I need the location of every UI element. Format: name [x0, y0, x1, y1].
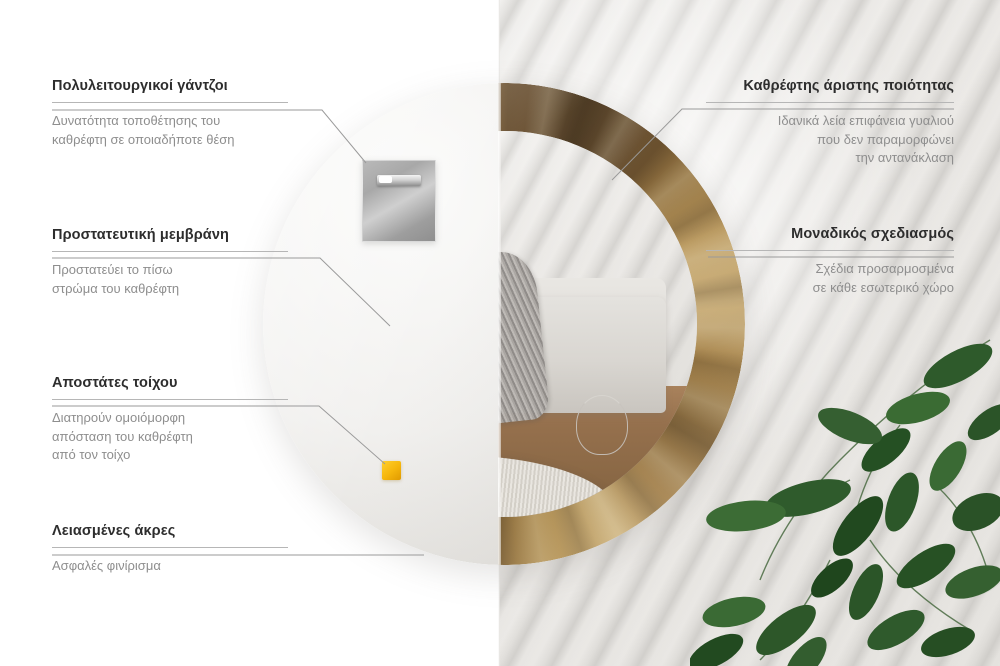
callout-body-line-1: Διατηρούν ομοιόμορφη: [52, 410, 185, 425]
callout-body-line-2: σε κάθε εσωτερικό χώρο: [813, 280, 954, 295]
callout-unique-design: Μοναδικός σχεδιασμός Σχέδια προσαρμοσμέν…: [706, 226, 954, 297]
callout-body: Δυνατότητα τοποθέτησης του καθρέφτη σε ο…: [52, 112, 288, 149]
callout-polished-edges: Λειασμένες άκρες Ασφαλές φινίρισμα: [52, 523, 288, 576]
callout-body-line-2: που δεν παραμορφώνει: [817, 132, 954, 147]
callout-glass-quality: Καθρέφτης άριστης ποιότητας Ιδανικά λεία…: [706, 78, 954, 168]
callout-body: Ιδανικά λεία επιφάνεια γυαλιού που δεν π…: [706, 112, 954, 167]
callout-title: Πολυλειτουργικοί γάντζοι: [52, 78, 288, 95]
callout-title: Αποστάτες τοίχου: [52, 375, 288, 392]
callout-title: Προστατευτική μεμβράνη: [52, 227, 288, 244]
callout-body-line-1: Ιδανικά λεία επιφάνεια γυαλιού: [778, 113, 954, 128]
callout-membrane: Προστατευτική μεμβράνη Προστατεύει το πί…: [52, 227, 288, 298]
leaf-shapes: [690, 335, 1000, 666]
callout-body: Σχέδια προσαρμοσμένα σε κάθε εσωτερικό χ…: [706, 260, 954, 297]
callout-body-line-2: στρώμα του καθρέφτη: [52, 281, 179, 296]
callout-body: Διατηρούν ομοιόμορφη απόσταση του καθρέφ…: [52, 409, 288, 464]
callout-body-line-1: Σχέδια προσαρμοσμένα: [816, 261, 954, 276]
callout-body: Προστατεύει το πίσω στρώμα του καθρέφτη: [52, 261, 288, 298]
callout-rule: [52, 547, 288, 548]
callout-rule: [706, 102, 954, 103]
infographic-canvas: Πολυλειτουργικοί γάντζοι Δυνατότητα τοπο…: [0, 0, 1000, 666]
callout-body-line-3: την αντανάκλαση: [855, 150, 954, 165]
green-leaf-branch: [690, 330, 1000, 666]
callout-title: Καθρέφτης άριστης ποιότητας: [706, 78, 954, 95]
callout-hooks: Πολυλειτουργικοί γάντζοι Δυνατότητα τοπο…: [52, 78, 288, 149]
callout-title: Λειασμένες άκρες: [52, 523, 288, 540]
callout-body: Ασφαλές φινίρισμα: [52, 557, 288, 575]
callout-body-line-2: καθρέφτη σε οποιαδήποτε θέση: [52, 132, 235, 147]
callout-body-line-3: από τον τοίχο: [52, 447, 130, 462]
callout-body-line-1: Ασφαλές φινίρισμα: [52, 558, 161, 573]
callout-body-line-1: Προστατεύει το πίσω: [52, 262, 173, 277]
callout-rule: [52, 102, 288, 103]
callout-rule: [52, 399, 288, 400]
callout-body-line-2: απόσταση του καθρέφτη: [52, 429, 193, 444]
callout-spacers: Αποστάτες τοίχου Διατηρούν ομοιόμορφη απ…: [52, 375, 288, 465]
callout-rule: [52, 251, 288, 252]
callout-body-line-1: Δυνατότητα τοποθέτησης του: [52, 113, 220, 128]
callout-rule: [706, 250, 954, 251]
callout-title: Μοναδικός σχεδιασμός: [706, 226, 954, 243]
